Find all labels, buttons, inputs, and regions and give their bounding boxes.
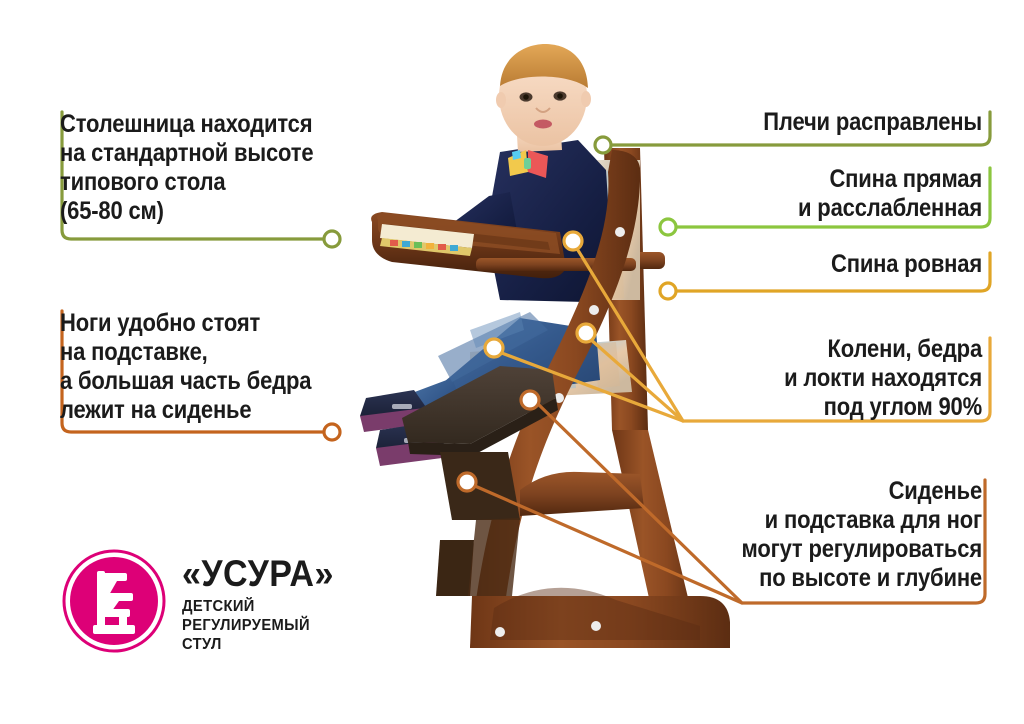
callout-knees[interactable]: Колени, бедра и локти находятся под угло…	[652, 335, 982, 422]
callout-back-straight-text: Спина прямая и расслабленная	[700, 165, 982, 223]
growing-chair-icon	[62, 549, 166, 653]
callout-seat[interactable]: Сиденье и подставка для ног могут регули…	[642, 477, 982, 593]
callout-seat-text: Сиденье и подставка для ног могут регули…	[683, 477, 982, 593]
callout-tabletop[interactable]: Столешница находится на стандартной высо…	[60, 110, 360, 226]
brand-name: «УСУРА»	[182, 555, 348, 592]
callout-knees-text: Колени, бедра и локти находятся под угло…	[692, 335, 982, 422]
brand-wordmark: «УСУРА» ДЕТСКИЙ РЕГУЛИРУЕМЫЙ СТУЛ	[182, 555, 362, 655]
callout-legs[interactable]: Ноги удобно стоят на подставке, а больша…	[60, 309, 360, 425]
callout-shoulders-text: Плечи расправлены	[718, 108, 982, 137]
callout-legs-text: Ноги удобно стоят на подставке, а больша…	[60, 309, 324, 425]
callout-back-even-text: Спина ровная	[718, 250, 982, 279]
brand-subtitle: ДЕТСКИЙ РЕГУЛИРУЕМЫЙ СТУЛ	[182, 598, 353, 655]
infographic-canvas: Столешница находится на стандартной высо…	[0, 0, 1024, 724]
brand-logo[interactable]: «УСУРА» ДЕТСКИЙ РЕГУЛИРУЕМЫЙ СТУЛ	[62, 549, 362, 661]
callout-tabletop-text: Столешница находится на стандартной высо…	[60, 110, 324, 226]
callout-shoulders[interactable]: Плечи расправлены	[682, 108, 982, 137]
callout-back-straight[interactable]: Спина прямая и расслабленная	[662, 165, 982, 223]
callout-back-even[interactable]: Спина ровная	[682, 250, 982, 279]
